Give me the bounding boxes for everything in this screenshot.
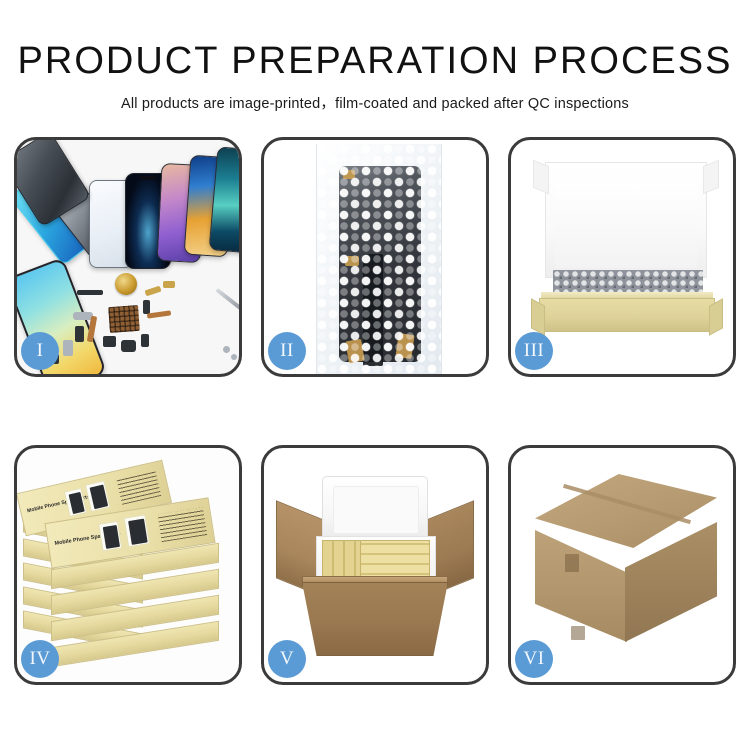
step-panel-2: II (261, 137, 489, 377)
spare-part (75, 326, 84, 342)
step-panel-4: Mobile Phone Spare Parts Mobile Phone Sp… (14, 445, 242, 685)
page-subtitle: All products are image-printed，film-coat… (0, 92, 750, 113)
step-badge-3: III (515, 332, 553, 370)
foam-cooler-lid (322, 476, 428, 544)
page-title: PRODUCT PREPARATION PROCESS (0, 40, 750, 82)
spec-text-lines (157, 507, 207, 542)
product-window (124, 514, 150, 547)
carton-front-panel (302, 582, 448, 656)
spare-part (163, 281, 175, 288)
header: PRODUCT PREPARATION PROCESS All products… (0, 40, 750, 113)
step-panel-3: III (508, 137, 736, 377)
process-steps-grid: I II (14, 137, 736, 687)
bubble-texture-small (317, 144, 441, 374)
foam-cooler-lid-inset (333, 486, 419, 534)
step-badge-1: I (21, 332, 59, 370)
product-window (85, 480, 111, 512)
foam-sheet (555, 184, 697, 268)
tweezers-tool (215, 288, 239, 312)
bubble-wrap-bag (316, 144, 442, 374)
step-badge-4: IV (21, 640, 59, 678)
product-thumbnail (90, 485, 109, 510)
product-window (98, 521, 122, 552)
step-badge-2: II (268, 332, 306, 370)
step-badge-6: VI (515, 640, 553, 678)
spare-part (121, 340, 136, 352)
spare-part (143, 300, 150, 314)
spare-part (141, 334, 149, 347)
kraft-box-front (539, 298, 715, 332)
speaker-coil-part (115, 273, 137, 295)
spec-text-lines (116, 470, 161, 504)
step-panel-1: I (14, 137, 242, 377)
carton-tape-mark (565, 554, 579, 572)
product-thumbnail (128, 519, 148, 545)
step-badge-5: V (268, 640, 306, 678)
carton-tape-mark (571, 626, 585, 640)
product-preparation-infographic: PRODUCT PREPARATION PROCESS All products… (0, 0, 750, 750)
spare-part (223, 346, 230, 353)
spare-part (144, 286, 161, 297)
product-thumbnail (103, 525, 120, 549)
step-panel-5: V (261, 445, 489, 685)
spare-part (77, 290, 103, 295)
spare-part (147, 310, 171, 318)
spare-part (231, 354, 237, 360)
product-window (64, 488, 87, 517)
spare-part (103, 336, 116, 347)
product-thumbnail (69, 492, 85, 514)
spare-part (63, 340, 73, 356)
chip-array-part (108, 305, 140, 333)
step-panel-6: VI (508, 445, 736, 685)
